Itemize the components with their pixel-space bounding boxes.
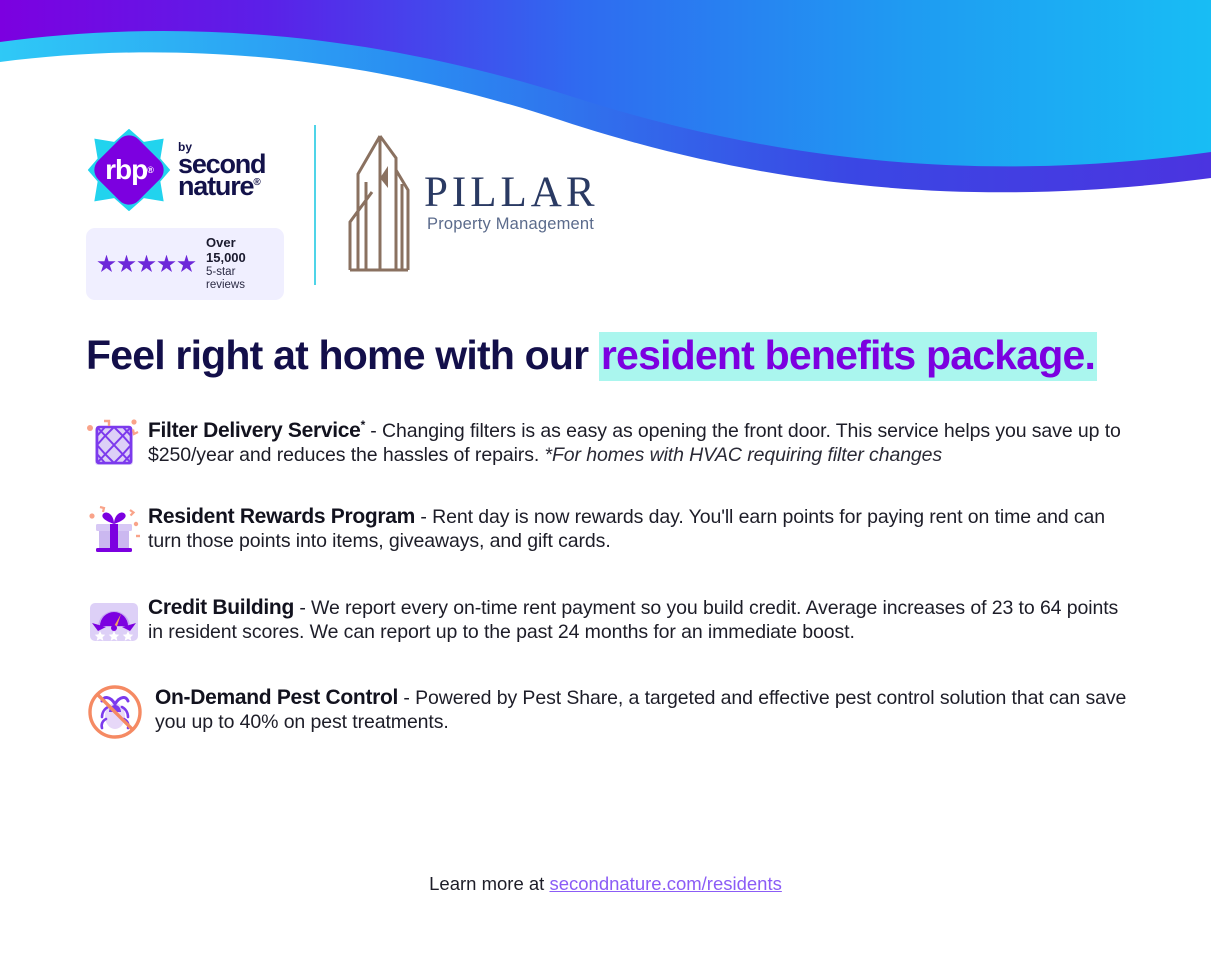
rbp-logo-icon: rbp® [86,127,172,213]
footer-link[interactable]: secondnature.com/residents [549,873,781,894]
rbp-logo-row: rbp® by second nature® [86,120,265,220]
footer: Learn more at secondnature.com/residents [0,873,1211,895]
second-nature-line2-text: nature [178,171,253,201]
benefit-icon-wrap [86,502,148,560]
footer-prefix: Learn more at [429,873,549,894]
star-icon [137,255,156,274]
gift-box-icon [86,504,142,558]
benefit-title-text: On-Demand Pest Control [155,686,398,709]
rbp-brand-block: rbp® by second nature® Over 15,000 5-sta… [86,120,286,300]
pillar-tagline: Property Management [427,215,599,234]
brand-header: rbp® by second nature® Over 15,000 5-sta… [86,120,599,300]
second-nature-wordmark: by second nature® [178,141,265,200]
benefit-title: On-Demand Pest Control [155,686,398,709]
page-title: Feel right at home with our resident ben… [86,332,1146,379]
benefit-text: Filter Delivery Service* - Changing filt… [148,416,1134,467]
benefit-icon-wrap [86,416,148,474]
partner-logo: PILLAR Property Management [344,130,599,275]
pillar-wordmark: PILLAR Property Management [424,171,599,234]
benefit-title: Resident Rewards Program [148,505,415,528]
star-icon [177,255,196,274]
benefit-item-resident-rewards: Resident Rewards Program - Rent day is n… [86,502,1134,560]
benefit-text: On-Demand Pest Control - Powered by Pest… [152,681,1134,734]
reviews-count: Over 15,000 [206,236,270,266]
rbp-registered-mark: ® [147,165,153,175]
second-nature-line2: nature® [178,173,265,200]
star-icon [97,255,116,274]
reviews-badge: Over 15,000 5-star reviews [86,228,284,300]
brand-divider [314,125,316,285]
second-nature-registered-mark: ® [253,177,259,188]
pillar-name: PILLAR [424,171,599,214]
benefit-icon-wrap [86,593,148,651]
benefits-list: Filter Delivery Service* - Changing filt… [86,416,1134,772]
headline-accent: resident benefits package. [599,332,1097,381]
pillar-building-icon [344,130,416,275]
reviews-subtitle: 5-star reviews [206,266,270,292]
benefit-text: Resident Rewards Program - Rent day is n… [148,502,1134,553]
benefit-title: Filter Delivery Service* [148,419,365,442]
air-filter-icon [86,418,142,472]
benefit-text: Credit Building - We report every on-tim… [148,593,1134,644]
benefit-icon-wrap [86,681,152,739]
benefit-title-text: Filter Delivery Service [148,419,361,442]
no-pest-icon [86,683,146,741]
benefit-title-text: Credit Building [148,596,294,619]
benefit-item-filter-delivery: Filter Delivery Service* - Changing filt… [86,416,1134,474]
star-icon [117,255,136,274]
benefit-title-text: Resident Rewards Program [148,505,415,528]
benefit-item-pest-control: On-Demand Pest Control - Powered by Pest… [86,681,1134,739]
benefit-dash: - [398,687,415,709]
benefit-dash: - [365,420,382,442]
star-icon [157,255,176,274]
benefit-footnote: *For homes with HVAC requiring filter ch… [544,444,942,466]
benefit-dash: - [415,506,432,528]
credit-score-gauge-icon [86,595,142,649]
benefit-title: Credit Building [148,596,294,619]
rbp-wordmark: rbp® [86,127,172,213]
benefit-dash: - [294,597,311,619]
reviews-text: Over 15,000 5-star reviews [206,236,270,292]
headline-lead: Feel right at home with our [86,332,599,378]
benefit-item-credit-building: Credit Building - We report every on-tim… [86,593,1134,651]
rbp-wordmark-text: rbp [105,154,147,186]
star-rating-icon [97,255,196,274]
